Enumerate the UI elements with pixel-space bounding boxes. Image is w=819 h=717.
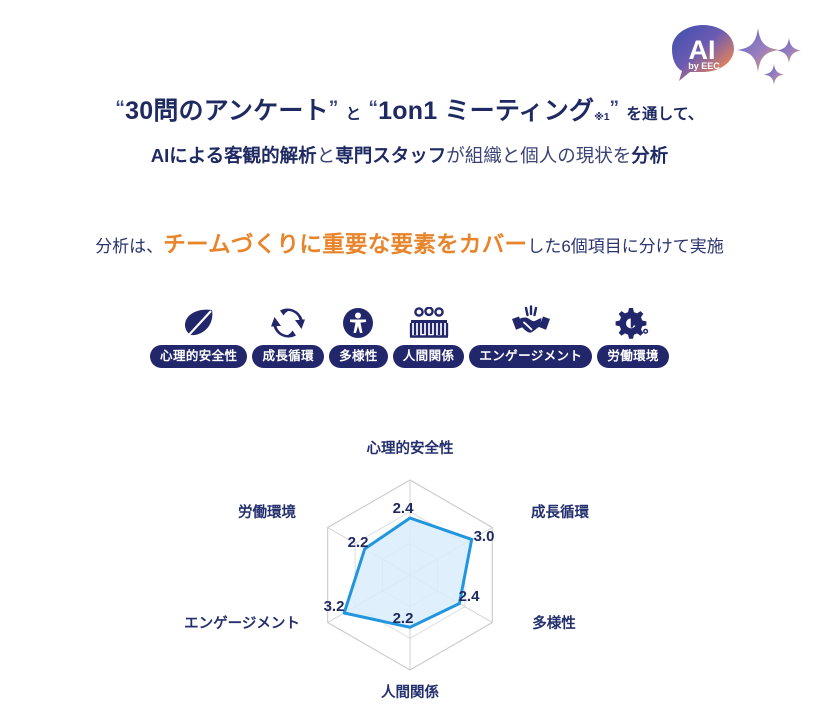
radar-value-label-0: 2.4 [393, 500, 415, 517]
radar-axis-label-0: 心理的安全性 [367, 439, 454, 457]
headline3-highlight: チームづくりに重要な要素をカバー [163, 232, 527, 257]
quote-open: “ [115, 98, 125, 119]
radar-axis-label-3: 人間関係 [381, 683, 439, 701]
category-badge-row: 心理的安全性 成長循環 多様性 [0, 296, 819, 368]
people-group-icon [408, 305, 450, 339]
category-label: 成長循環 [252, 345, 324, 369]
radar-value-label-4: 3.2 [324, 598, 345, 615]
headline-part1: 30問のアンケート [125, 97, 329, 125]
radar-value-label-5: 2.2 [348, 534, 369, 551]
sparkle-icon [734, 26, 806, 88]
radar-chart: 心理的安全性 成長循環 多様性 人間関係 エンゲージメント 労働環境 2.4 3… [150, 425, 670, 710]
category-label: エンゲージメント [469, 345, 592, 369]
slide-root: AI by EEC “30問のアンケート” と “1on1 ミーティング※1” … [0, 0, 819, 717]
category-item-psychological-safety[interactable]: 心理的安全性 [150, 305, 247, 369]
leaf-icon [181, 305, 217, 339]
category-label: 人間関係 [393, 345, 465, 369]
headline2-b: と [317, 145, 336, 166]
recycle-arrows-icon [271, 305, 305, 339]
category-item-growth-cycle[interactable]: 成長循環 [252, 305, 324, 369]
handshake-icon [510, 305, 552, 339]
category-label: 心理的安全性 [150, 345, 247, 369]
headline2-c: 専門スタッフ [335, 145, 446, 166]
ai-speech-bubble-icon: AI by EEC [670, 24, 736, 82]
headline-conjunction: と [346, 106, 362, 123]
category-item-diversity[interactable]: 多様性 [329, 305, 388, 369]
accessibility-person-icon [342, 305, 374, 339]
headline-tertiary: 分析は、チームづくりに重要な要素をカバーした6個項目に分けて実施 [0, 227, 819, 259]
radar-axis-label-4: エンゲージメント [184, 614, 300, 632]
radar-value-label-3: 2.2 [393, 610, 414, 627]
svg-text:by EEC: by EEC [688, 61, 720, 71]
headline2-e: 分析 [631, 145, 668, 166]
quote-close-2: ” [609, 98, 619, 119]
headline3-tail: した6個項目に分けて実施 [527, 237, 723, 256]
headline2-d: が組織と個人の現状を [446, 145, 631, 166]
quote-close: ” [329, 98, 339, 119]
headline-tail: を通して、 [626, 106, 703, 123]
radar-value-label-1: 3.0 [474, 528, 495, 545]
gears-icon [615, 305, 651, 339]
category-item-engagement[interactable]: エンゲージメント [469, 305, 592, 369]
radar-axis-label-5: 労働環境 [238, 503, 296, 521]
category-label: 多様性 [329, 345, 388, 369]
quote-open-2: “ [368, 98, 378, 119]
radar-axis-label-2: 多様性 [532, 614, 576, 632]
radar-axis-label-1: 成長循環 [531, 503, 589, 521]
radar-value-label-2: 2.4 [459, 588, 481, 605]
headline-part2: 1on1 ミーティング [378, 97, 594, 125]
headline3-lead: 分析は、 [95, 237, 163, 256]
category-item-relationships[interactable]: 人間関係 [393, 305, 465, 369]
category-item-work-environment[interactable]: 労働環境 [597, 305, 669, 369]
headline-primary: “30問のアンケート” と “1on1 ミーティング※1” を通して、 [0, 91, 819, 127]
radar-chart-svg: 心理的安全性 成長循環 多様性 人間関係 エンゲージメント 労働環境 2.4 3… [150, 425, 670, 710]
headline2-a: AIによる客観的解析 [151, 145, 317, 166]
ai-logo: AI by EEC [662, 22, 812, 94]
footnote-marker: ※1 [594, 112, 609, 123]
category-label: 労働環境 [597, 345, 669, 369]
headline-secondary: AIによる客観的解析と専門スタッフが組織と個人の現状を分析 [0, 142, 819, 168]
